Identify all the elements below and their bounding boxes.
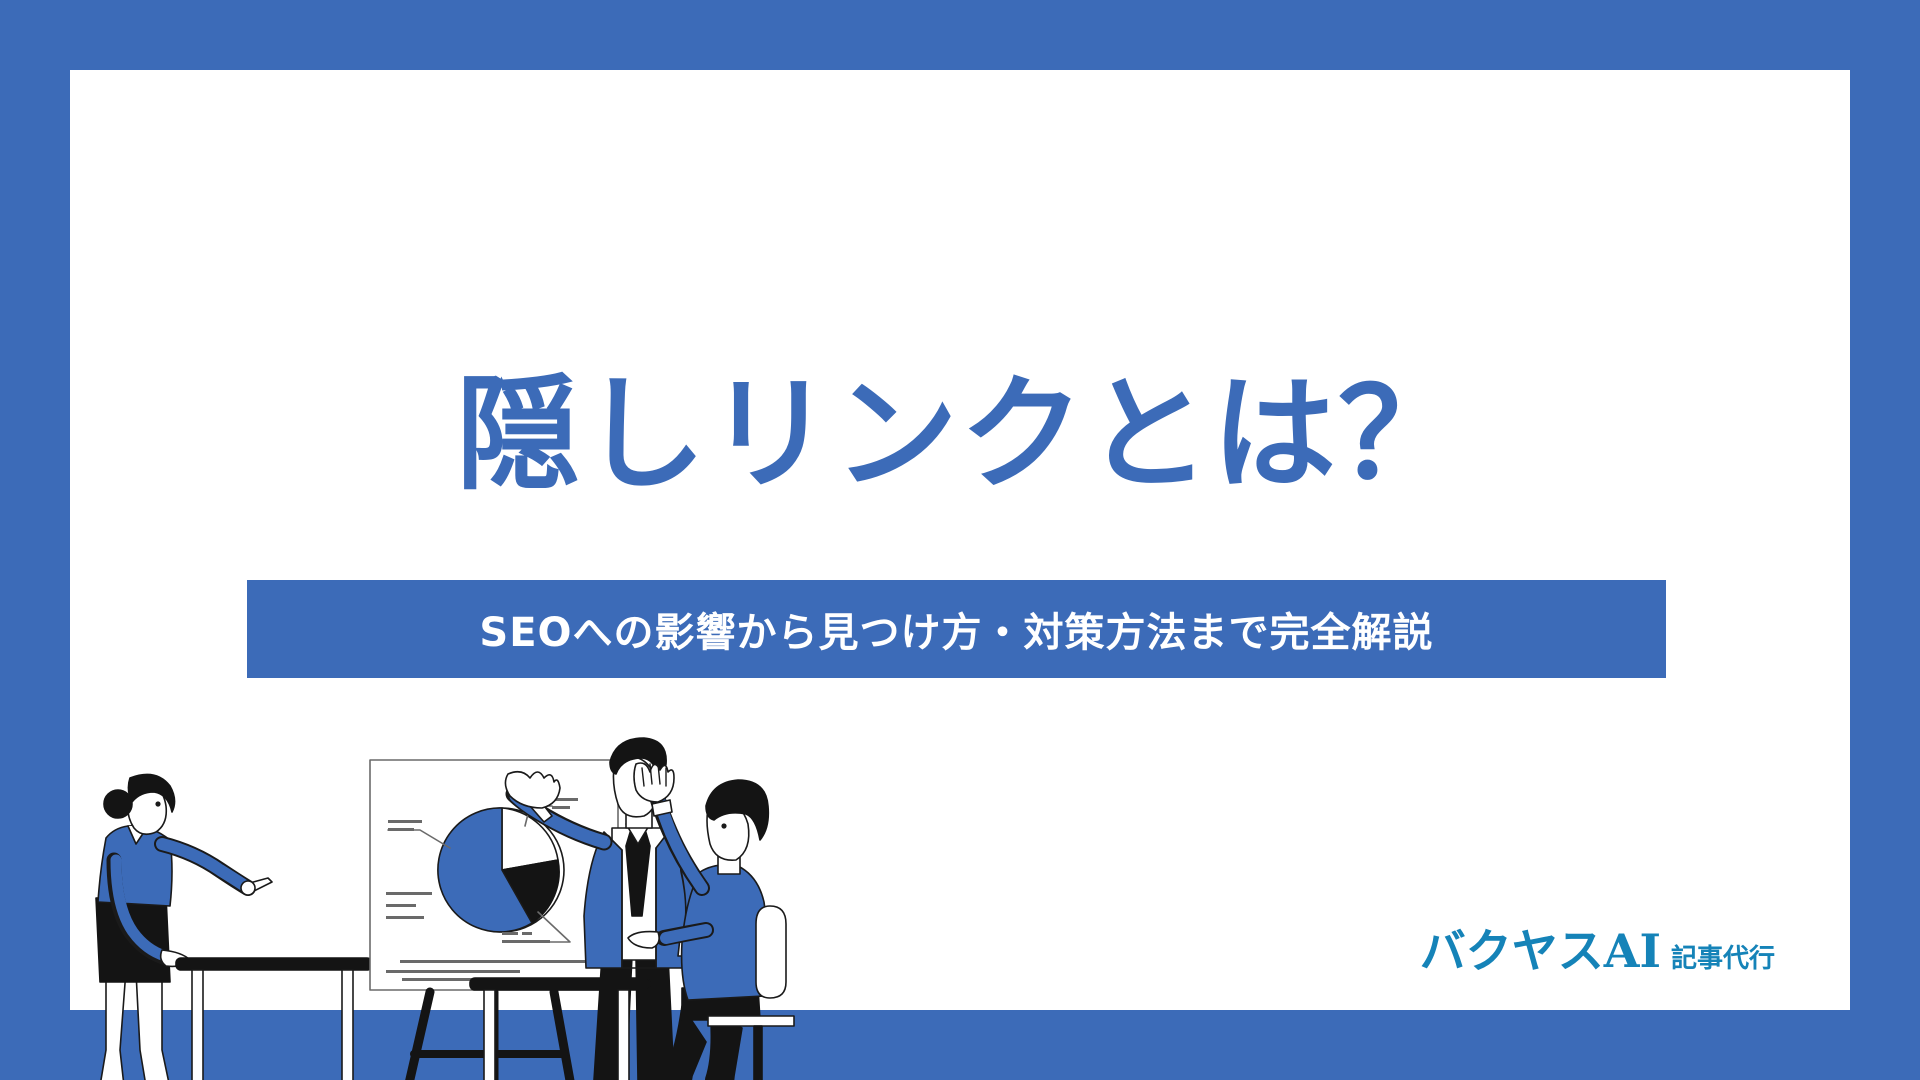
- brand-logo: バクヤスAI 記事代行: [1425, 915, 1775, 973]
- logo-service-text: 記事代行: [1671, 938, 1775, 975]
- illustration-floor: [70, 1075, 810, 1080]
- pie-chart: [438, 808, 564, 932]
- page-title: 隠しリンクとは？: [70, 365, 1850, 505]
- illustration-svg: [70, 720, 810, 1080]
- desk-right: [470, 978, 650, 1080]
- logo-brand-text: バクヤスAI: [1420, 915, 1661, 981]
- desk-left: [176, 958, 372, 1080]
- figure-woman-pointing: [84, 774, 272, 1080]
- subtitle-text: SEOへの影響から見つけ方・対策方法まで完全解説: [479, 600, 1433, 658]
- easel-with-poster: [370, 760, 618, 1080]
- business-team-illustration: [70, 720, 810, 1080]
- subtitle-band: SEOへの影響から見つけ方・対策方法まで完全解説: [247, 580, 1666, 678]
- content-panel: 隠しリンクとは？ SEOへの影響から見つけ方・対策方法まで完全解説 バクヤスAI…: [70, 70, 1850, 1010]
- slide-canvas: 隠しリンクとは？ SEOへの影響から見つけ方・対策方法まで完全解説 バクヤスAI…: [0, 0, 1920, 1080]
- figure-man-presenting: [505, 738, 696, 1080]
- figure-man-seated: [628, 763, 794, 1080]
